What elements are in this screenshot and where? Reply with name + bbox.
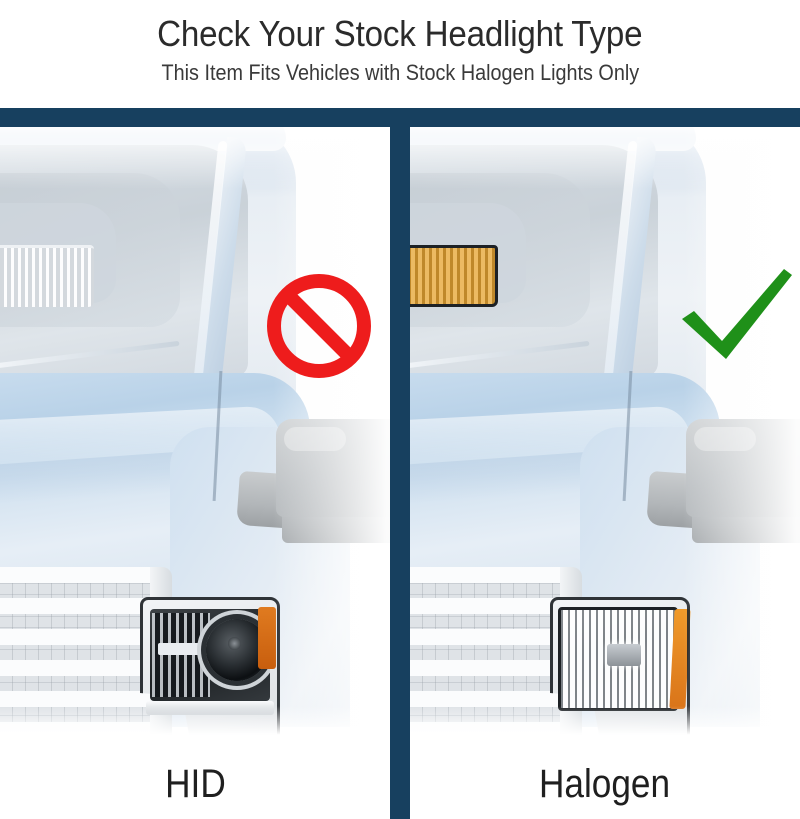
header: Check Your Stock Headlight Type This Ite… bbox=[0, 0, 800, 108]
hid-inner-ribs bbox=[152, 613, 210, 697]
check-mark-icon bbox=[678, 267, 796, 363]
halogen-turn-signal-lens bbox=[410, 245, 498, 307]
halogen-reflector-lens bbox=[558, 607, 678, 711]
caption-halogen-label: Halogen bbox=[539, 762, 670, 806]
caption-halogen: Halogen bbox=[410, 748, 800, 819]
hid-chrome-band bbox=[146, 701, 274, 715]
side-mirror bbox=[686, 419, 800, 517]
headlight-comparison-graphic: Check Your Stock Headlight Type This Ite… bbox=[0, 0, 800, 819]
caption-hid-label: HID bbox=[165, 762, 226, 806]
hid-amber-marker bbox=[258, 607, 276, 669]
panel-halogen bbox=[410, 127, 800, 746]
halogen-bulb-reflector bbox=[607, 644, 641, 666]
tire-shadow bbox=[688, 735, 792, 746]
truck-photo-halogen bbox=[410, 127, 800, 746]
tire-shadow bbox=[278, 735, 382, 746]
frame-center-divider bbox=[390, 108, 410, 819]
headlight-assembly-halogen bbox=[550, 597, 690, 746]
page-subtitle: This Item Fits Vehicles with Stock Halog… bbox=[161, 58, 639, 88]
headlight-assembly-hid bbox=[140, 597, 280, 746]
hid-lower-lamp bbox=[0, 245, 94, 307]
panel-hid bbox=[0, 127, 390, 746]
hid-lens-chamber bbox=[150, 609, 270, 701]
no-entry-icon bbox=[263, 270, 375, 382]
side-mirror bbox=[276, 419, 390, 517]
hid-inner-badge bbox=[158, 643, 202, 655]
truck-photo-hid bbox=[0, 127, 390, 746]
page-title: Check Your Stock Headlight Type bbox=[157, 12, 642, 56]
caption-hid: HID bbox=[0, 748, 390, 819]
